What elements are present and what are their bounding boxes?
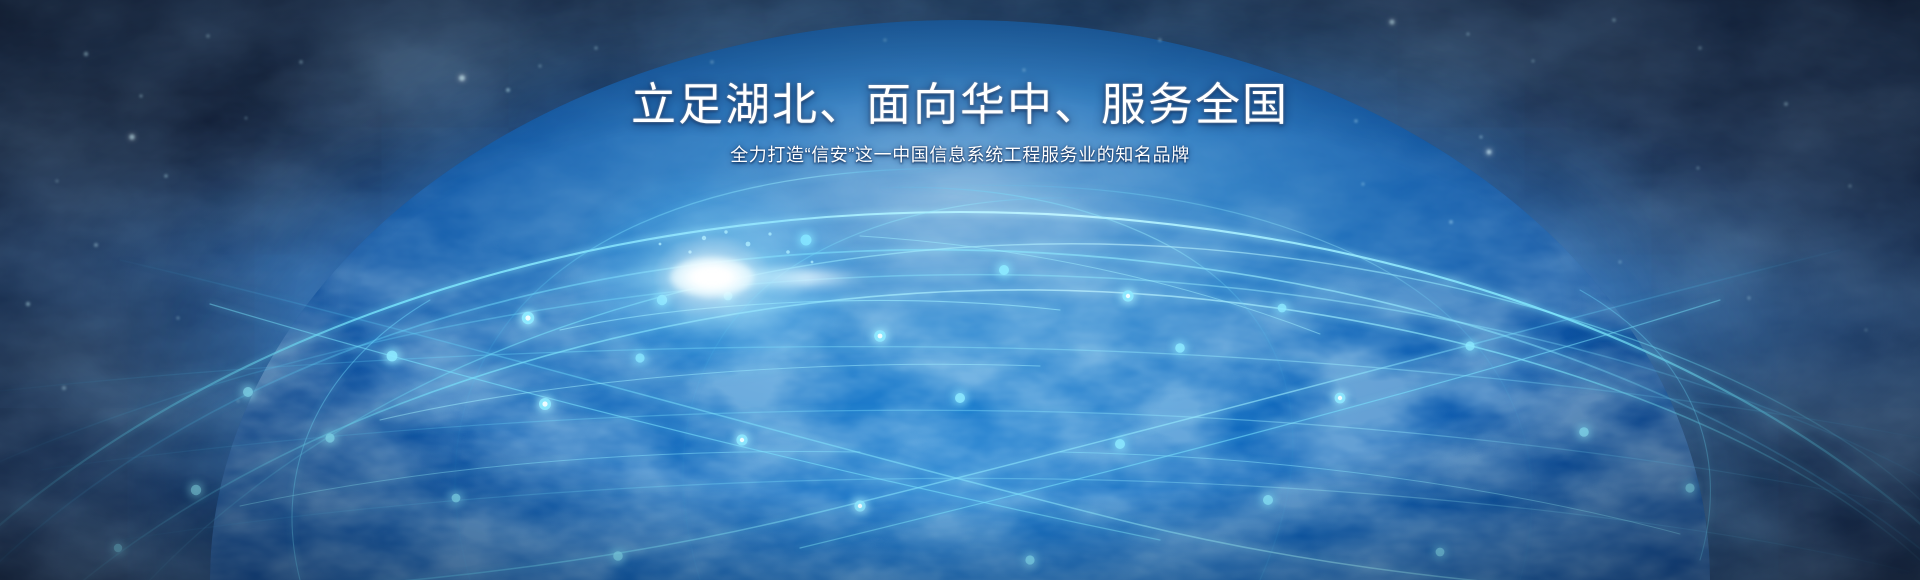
central-light-burst <box>712 277 714 279</box>
banner-headline: 立足湖北、面向华中、服务全国 <box>0 82 1920 127</box>
banner-copy: 立足湖北、面向华中、服务全国 全力打造“信安”这一中国信息系统工程服务业的知名品… <box>0 82 1920 167</box>
hero-banner: 立足湖北、面向华中、服务全国 全力打造“信安”这一中国信息系统工程服务业的知名品… <box>0 0 1920 580</box>
banner-subheadline: 全力打造“信安”这一中国信息系统工程服务业的知名品牌 <box>0 145 1920 167</box>
